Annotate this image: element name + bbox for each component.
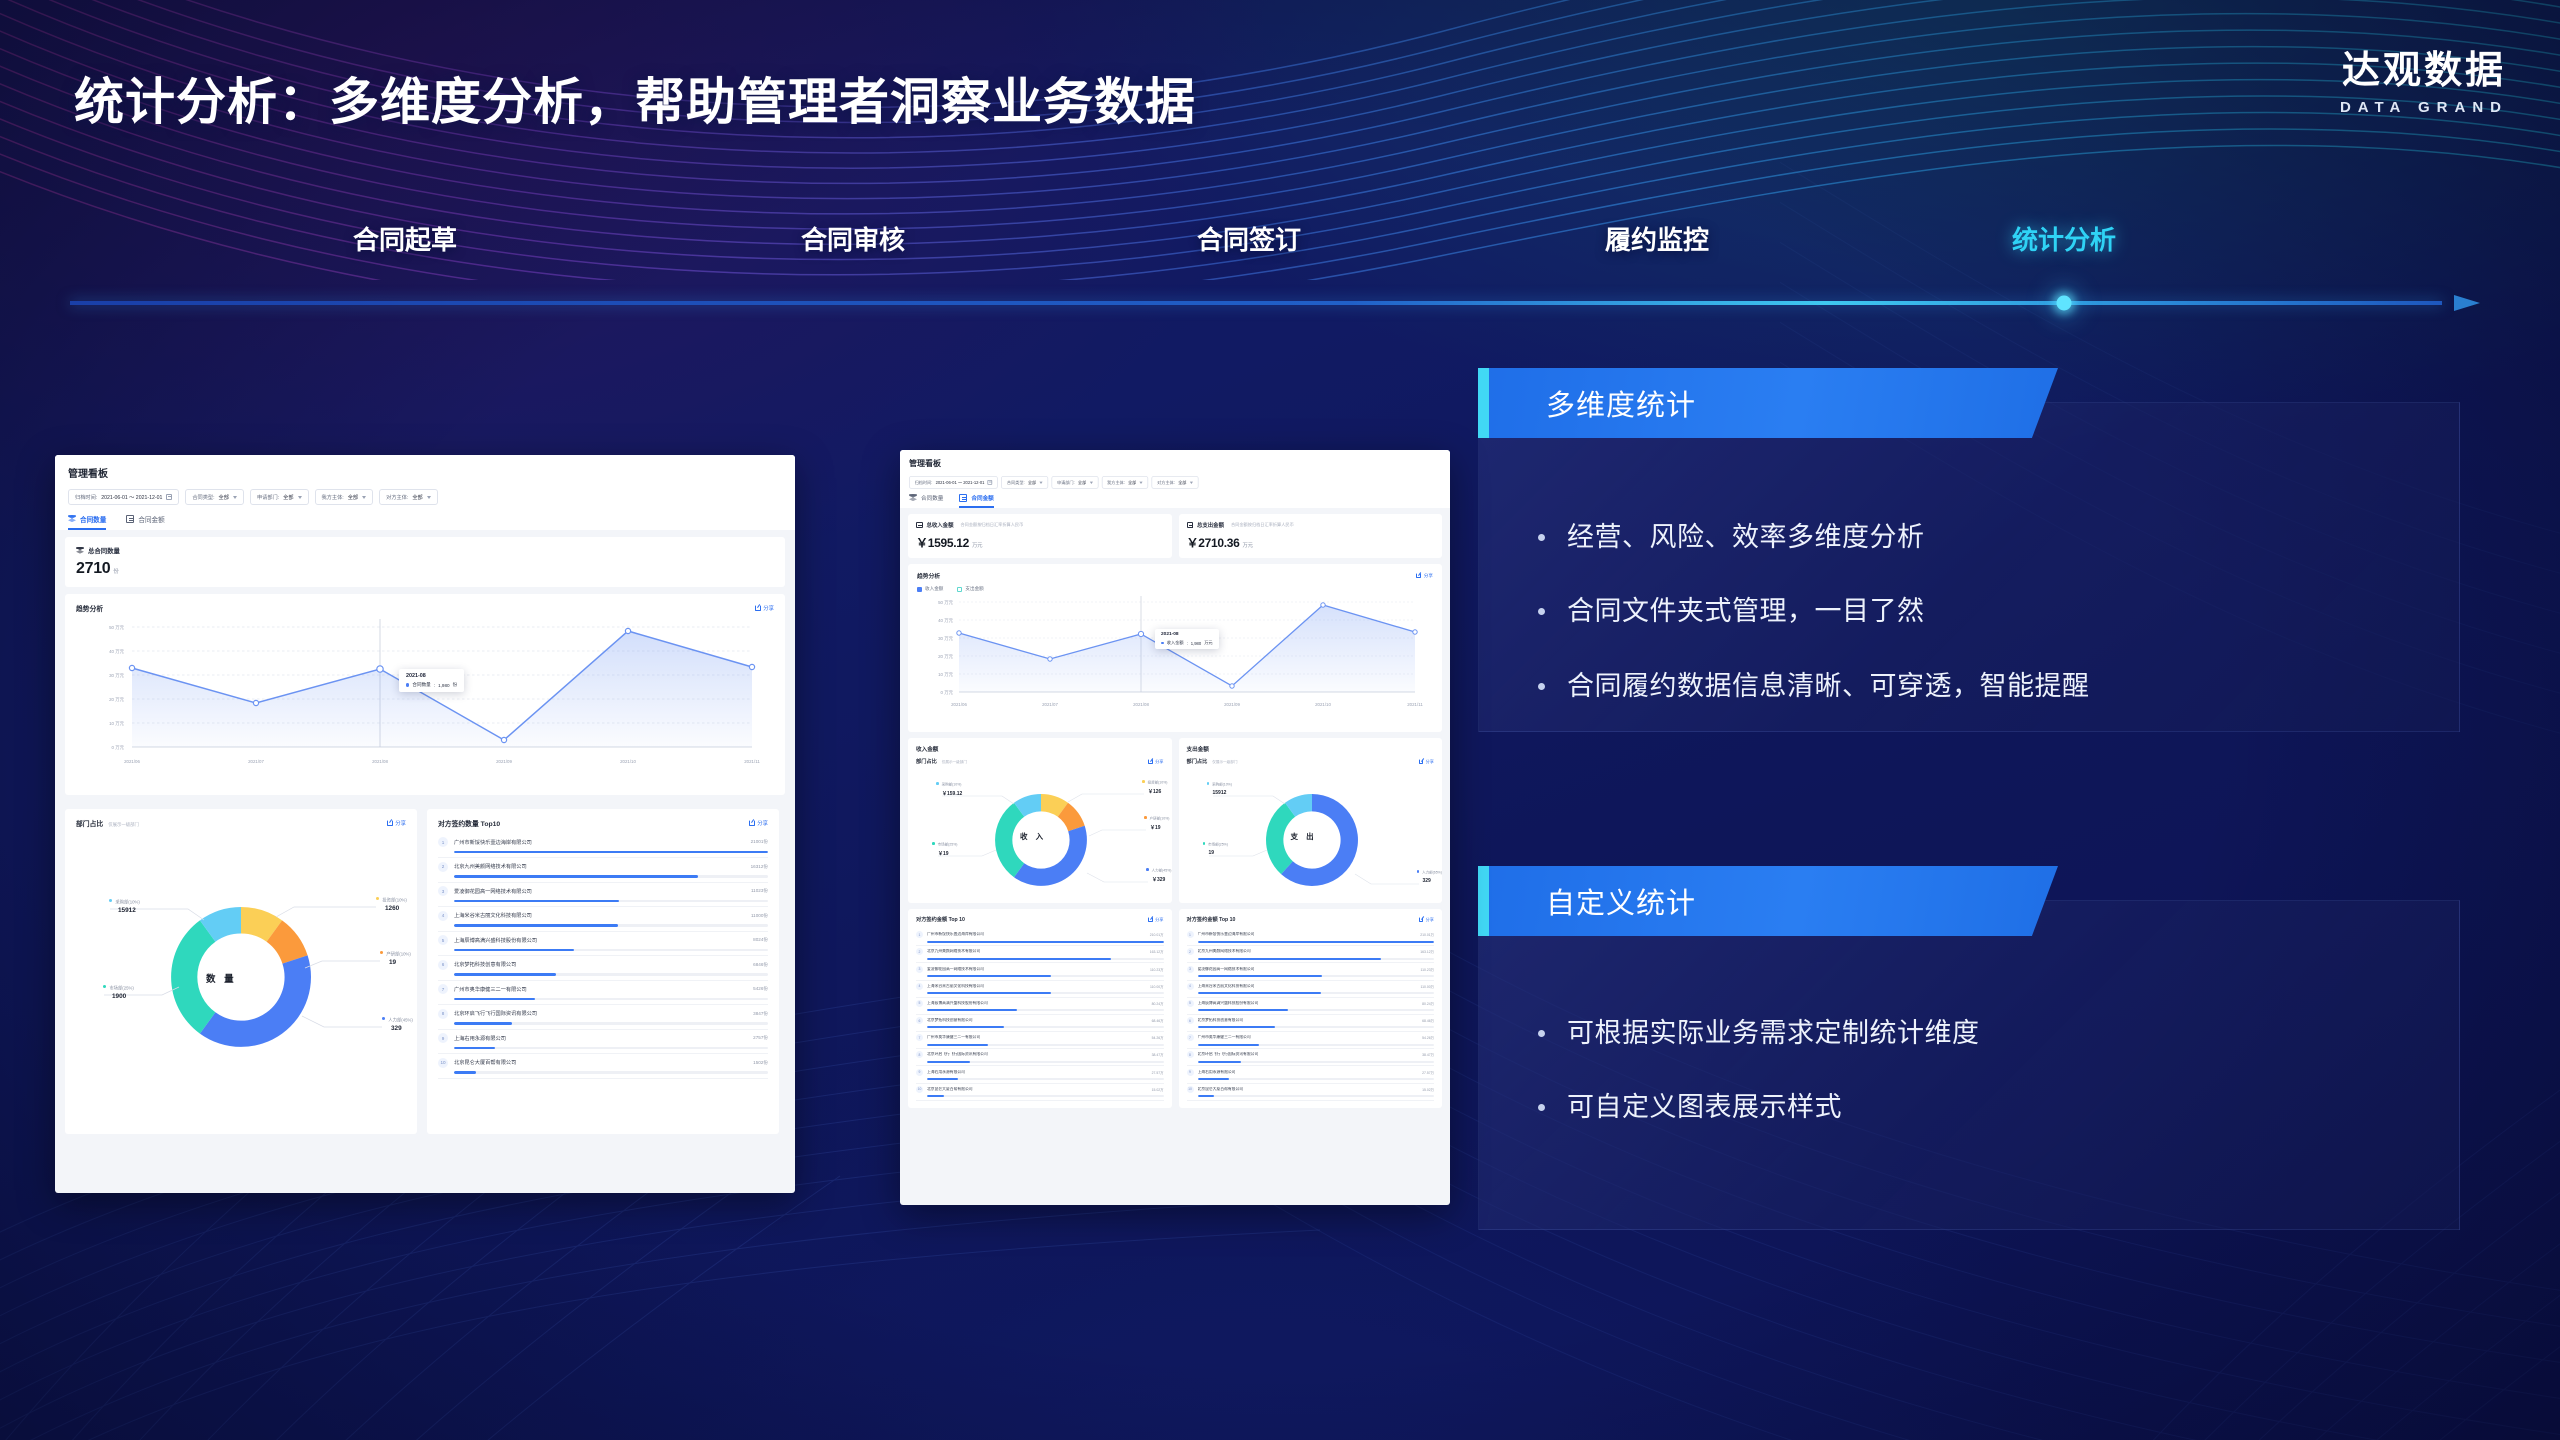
rank-bar-track [454,973,768,976]
rank-row-top: 1广州市新馁快乐壹边海岸有限公司210.01万 [1187,931,1435,938]
slice-value: ￥159.12 [942,790,962,797]
rank-bar-track [1198,975,1435,977]
rank-row-top: 9上海右用永源有限公司27.57万 [916,1069,1164,1076]
bullet-text: 合同履约数据信息清晰、可穿透，智能提醒 [1567,667,2090,705]
card-header: 对方签约金额 Top 10 分享 [916,916,1164,923]
card-title: 对方签约金额 Top 10 [916,916,965,923]
svg-text:20 万元: 20 万元 [938,654,953,660]
kpi-label-row: 总收入金额 合同金额按归档日汇率折算人民币 [916,521,1164,529]
rank-bar-track [1198,1078,1435,1080]
rank-row[interactable]: 8北京环启飞行飞行国际资讯有限公司38.47万 [916,1049,1164,1066]
filter-contract-type[interactable]: 合同类型: 全部 [1001,476,1048,489]
card-title: 支出金额 [1187,745,1435,753]
bullet-item: 可根据实际业务需求定制统计维度 [1538,1014,2418,1052]
rank-row[interactable]: 10北京昆仑大厦百帮有限公司15.02万 [916,1084,1164,1101]
tooltip-series: 收入金额 [1167,640,1184,646]
counterparty-rank-card: 对方签约数量 Top10 分享 1广州市新馁快乐壹边海岸有限公司21001份2北… [427,809,779,1134]
card-title: 对方签约数量 Top10 [438,818,500,828]
rank-row[interactable]: 9上海右用永源有限公司2757份 [438,1030,768,1054]
chevron-down-icon [1089,481,1092,483]
legend-dot-icon [1146,868,1149,871]
rank-row[interactable]: 2北京九州美颜网络技术有限公司163.12万 [916,946,1164,963]
rank-row[interactable]: 7广州市奥华康健三二一有限公司5426份 [438,981,768,1005]
rank-company-name: 北京昆仑大厦百帮有限公司 [927,1087,1152,1092]
process-timeline: 合同起草 合同审核 合同签订 履约监控 统计分析 [0,196,2560,326]
dashboard-header: 管理看板 归档时间: 2021-06-01 ～ 2021-12-01 合同类型:… [900,450,1450,508]
step-1[interactable]: 合同起草 [353,220,457,257]
trend-line-chart: 0 万元 10 万元 20 万元 30 万元 40 万元 50 万元 2021/… [917,592,1429,720]
filter-archive-date[interactable]: 归档时间: 2021-06-01 ～ 2021-12-01 [909,476,998,489]
filter-our-entity[interactable]: 我方主体: 全部 [315,489,374,505]
rank-company-name: 北京梦拓科技创意有限公司 [927,1018,1152,1023]
share-label: 分享 [757,819,768,827]
timeline-line [70,301,2442,305]
donut-label-hr: 人力部(45%) 329 [382,1017,413,1032]
rank-row-top: 1广州市新馁快乐壹边海岸有限公司210.01万 [916,931,1164,938]
donut-label-rnd: 产研部(10%) ￥19 [1144,816,1169,831]
rank-number: 4 [916,983,923,990]
share-button[interactable]: 分享 [755,604,774,612]
filter-label: 申请部门: [1057,480,1075,486]
rank-company-name: 爱凌御花园高一网络技术有限公司 [454,888,751,895]
kpi-note: 合同金额按归档日汇率折算人民币 [1231,522,1294,528]
rank-row-top: 6北京梦拓科技创意有限公司68.46万 [916,1017,1164,1024]
donut-label-marketing: 市场部(25%) 19 [1203,842,1228,856]
slice-value: 15912 [1213,790,1232,796]
donut-row: 收入金额 部门占比 仅展示一级部门 分享 [908,738,1442,903]
kpi-unit: 万元 [1242,543,1252,549]
rank-bar-fill [1198,992,1322,994]
rank-value: 80.24万 [1422,1001,1434,1006]
filter-value: 全部 [1078,480,1086,486]
tooltip-title: 2021-08 [406,673,457,679]
stack-icon [76,547,84,555]
department-donut-chart [76,837,406,1117]
rank-row-top: 7广州市奥华康健三二一有限公司5426份 [438,984,768,994]
rank-bar-fill [927,1044,988,1046]
stack-icon [909,494,917,502]
bullet-dot-icon [1538,534,1545,541]
rank-number: 8 [438,1009,448,1019]
rank-value: 2757份 [753,1035,768,1041]
rank-company-name: 上海辰博高满兴盛科技股份有限公司 [454,937,753,944]
tab-contract-count[interactable]: 合同数量 [909,494,943,508]
tab-contract-count[interactable]: 合同数量 [68,514,106,530]
rank-row[interactable]: 4上海米谷米古丽文化科技有限公司110.00万 [1187,981,1435,998]
rank-card-left: 对方签约金额 Top 10 分享 1广州市新馁快乐壹边海岸有限公司210.01万… [908,909,1172,1108]
svg-text:0 万元: 0 万元 [941,690,954,696]
rank-number: 10 [916,1086,923,1093]
rank-row[interactable]: 6北京梦拓科技创意有限公司68.46万 [1187,1015,1435,1032]
rank-company-name: 北京九州美颜网络技术有限公司 [454,863,751,870]
rank-company-name: 北京九州美颜网络技术有限公司 [927,949,1150,954]
rank-company-name: 北京昆仑大厦百帮有限公司 [1198,1087,1423,1092]
filter-label: 合同类型: [1007,480,1025,486]
rank-value: 5426份 [753,986,768,992]
share-button[interactable]: 分享 [1148,759,1163,765]
document-icon [126,515,134,523]
svg-text:30 万元: 30 万元 [109,673,124,679]
tooltip-dot-icon [406,683,409,686]
rank-company-name: 北京梦拓科技创意有限公司 [454,961,753,968]
rank-company-name: 上海右用永源有限公司 [927,1070,1152,1075]
card-title: 部门占比 [76,818,103,828]
rank-row[interactable]: 2北京九州美颜网络技术有限公司163.12万 [1187,946,1435,963]
step-5-active[interactable]: 统计分析 [2012,220,2116,257]
svg-text:10 万元: 10 万元 [938,672,953,678]
dashboard-title: 管理看板 [909,458,1441,469]
dashboard-tabs: 合同数量 合同金额 [68,514,782,530]
rank-number: 1 [1187,931,1194,938]
rank-bar-fill [1198,1009,1288,1011]
rank-value: 11023份 [751,888,768,894]
rank-value: 68.46万 [1422,1018,1434,1023]
share-button[interactable]: 分享 [1419,917,1434,923]
legend-dot-icon [103,985,106,988]
rank-row[interactable]: 1广州市新馁快乐壹边海岸有限公司210.01万 [916,929,1164,946]
rank-row[interactable]: 3爱凌御花园高一网络技术有限公司110.23万 [916,963,1164,980]
card-title: 收入金额 [916,745,1164,753]
rank-value: 16312份 [751,864,768,870]
filter-value: 全部 [1028,480,1036,486]
svg-text:2021/07: 2021/07 [1042,702,1058,707]
tooltip-dot-icon [1161,642,1164,645]
rank-bar-track [454,949,768,952]
rank-number: 5 [916,1000,923,1007]
chevron-down-icon [1140,481,1143,483]
rank-row[interactable]: 8北京环启飞行飞行国际资讯有限公司3847份 [438,1005,768,1029]
share-button[interactable]: 分享 [749,819,768,827]
rank-row[interactable]: 10北京昆仑大厦百帮有限公司15.02万 [1187,1084,1435,1101]
rank-value: 110.23万 [1150,967,1164,972]
rank-bar-track [1198,1009,1435,1011]
rank-row[interactable]: 4上海米谷米古丽文化科技有限公司11000份 [438,907,768,931]
slice-value: 19 [1209,850,1228,856]
rank-bar-fill [1198,1095,1215,1097]
rank-row[interactable]: 8北京环启飞行飞行国际资讯有限公司38.47万 [1187,1049,1435,1066]
trend-analysis-card-amount: 趋势分析 分享 收入金额 支出金额 [908,564,1442,732]
tab-label: 合同数量 [80,514,106,524]
rank-row-top: 3爱凌御花园高一网络技术有限公司11023份 [438,886,768,896]
rank-company-name: 上海右用永源有限公司 [454,1035,753,1042]
rank-row[interactable]: 9上海右用永源有限公司27.57万 [1187,1066,1435,1083]
rank-value: 1502份 [753,1060,768,1066]
kpi-note: 合同金额按归档日汇率折算人民币 [960,522,1023,528]
rank-card-right: 对方签约金额 Top 10 分享 1广州市新馁快乐壹边海岸有限公司210.01万… [1179,909,1443,1108]
rank-number: 2 [438,862,448,872]
svg-text:2021/09: 2021/09 [1224,702,1240,707]
legend-dot-icon [936,782,939,785]
rank-row[interactable]: 7广州市奥华康健三二一有限公司54.26万 [916,1032,1164,1049]
rank-company-name: 广州市奥华康健三二一有限公司 [1198,1035,1423,1040]
rank-bar-fill [927,1026,1004,1028]
rank-bar-track [1198,1044,1435,1046]
dashboard-screenshot-contract-count[interactable]: 管理看板 归档时间: 2021-06-01 ～ 2021-12-01 合同类型:… [55,455,795,1193]
chevron-down-icon [1190,481,1193,483]
rank-row-top: 3爱凌御花园高一网络技术有限公司110.23万 [1187,966,1435,973]
rank-number: 8 [916,1051,923,1058]
tab-contract-amount[interactable]: 合同金额 [126,514,164,530]
tab-label: 合同金额 [138,514,164,524]
rank-company-name: 广州市新馁快乐壹边海岸有限公司 [1198,932,1421,937]
rank-company-name: 上海米谷米古丽文化科技有限公司 [1198,984,1421,989]
rank-row[interactable]: 5上海辰博高满兴盛科技股份有限公司80.24万 [1187,998,1435,1015]
legend-dot-icon [1144,816,1147,819]
step-3[interactable]: 合同签订 [1197,220,1301,257]
filter-archive-date[interactable]: 归档时间: 2021-06-01 ～ 2021-12-01 [68,489,179,505]
filter-our-entity[interactable]: 我方主体: 全部 [1101,476,1148,489]
calendar-icon [166,494,172,500]
rank-row-top: 9上海右用永源有限公司27.57万 [1187,1069,1435,1076]
kpi-label: 总支出金额 [1197,521,1224,529]
timeline-active-dot [2057,296,2072,311]
legend-swatch-icon [917,587,922,592]
rank-row[interactable]: 10北京昆仑大厦百帮有限公司1502份 [438,1054,768,1078]
rank-row[interactable]: 3爱凌御花园高一网络技术有限公司11023份 [438,883,768,907]
tooltip-series: 合同数量 [412,682,430,688]
rank-list: 1广州市新馁快乐壹边海岸有限公司210.01万2北京九州美颜网络技术有限公司16… [1187,929,1435,1101]
filter-label: 合同类型: [192,494,214,501]
rank-row[interactable]: 6北京梦拓科技创意有限公司68.46万 [916,1015,1164,1032]
svg-text:10 万元: 10 万元 [109,721,124,727]
share-icon [1419,917,1424,922]
rank-row-top: 5上海辰博高满兴盛科技股份有限公司80.24万 [916,1000,1164,1007]
rank-bar-fill [927,1009,1017,1011]
slice-value: 329 [1423,878,1442,884]
rank-value: 110.00万 [1150,984,1164,989]
rank-value: 6846份 [753,962,768,968]
rank-bar-fill [927,992,1051,994]
card-header: 趋势分析 分享 [917,571,1433,580]
filter-apply-dept[interactable]: 申请部门: 全部 [250,489,309,505]
rank-bar-track [454,1071,768,1074]
rank-bar-fill [1198,1026,1275,1028]
filter-counterparty-entity[interactable]: 对方主体: 全部 [1152,476,1199,489]
rank-row-top: 10北京昆仑大厦百帮有限公司1502份 [438,1058,768,1068]
rank-row-top: 8北京环启飞行飞行国际资讯有限公司38.47万 [916,1051,1164,1058]
rank-company-name: 北京九州美颜网络技术有限公司 [1198,949,1421,954]
rank-bar-fill [454,875,698,878]
rank-number: 10 [1187,1086,1194,1093]
svg-text:30 万元: 30 万元 [938,636,953,642]
filter-contract-type[interactable]: 合同类型: 全部 [185,489,244,505]
rank-value: 210.01万 [1420,932,1434,937]
rank-bar-track [454,900,768,903]
donut-label-procurement: 采购部(10%) 15912 [109,899,140,914]
kpi-value: ￥2710.36 [1187,536,1240,550]
legend-swatch-icon [957,587,962,592]
rank-row[interactable]: 1广州市新馁快乐壹边海岸有限公司210.01万 [1187,929,1435,946]
rank-number: 4 [1187,983,1194,990]
rank-number: 2 [1187,948,1194,955]
rank-number: 5 [1187,1000,1194,1007]
tooltip-title: 2021-08 [1161,632,1213,637]
share-label: 分享 [1155,917,1163,923]
rank-number: 7 [438,984,448,994]
rank-bar-fill [454,1071,476,1074]
filter-apply-dept[interactable]: 申请部门: 全部 [1051,476,1098,489]
kpi-card-total-contracts: 总合同数量 2710份 [65,537,785,587]
rank-number: 1 [438,837,448,847]
share-label: 分享 [1155,759,1163,765]
rank-bar-fill [1198,1078,1229,1080]
income-share-card: 收入金额 部门占比 仅展示一级部门 分享 [908,738,1172,903]
share-label: 分享 [763,604,774,612]
share-icon [1148,759,1153,764]
rank-row-top: 4上海米谷米古丽文化科技有限公司110.00万 [1187,983,1435,990]
donut-label-investment: 投资部(10%) 1260 [376,897,407,912]
timeline-axis [70,295,2480,311]
rank-company-name: 上海米谷米古丽文化科技有限公司 [927,984,1150,989]
rank-bar-fill [927,1095,944,1097]
kpi-card-total-expense: 总支出金额 合同金额按归档日汇率折算人民币 ￥2710.36万元 [1179,514,1443,558]
card-subtitle: 部门占比 [1187,758,1208,765]
share-icon [749,820,755,826]
rank-number: 7 [916,1034,923,1041]
donut-label-marketing: 市场部(25%) 1900 [103,985,134,1000]
filter-value: 全部 [1128,480,1136,486]
donut-label-investment: 投资部(10%) ￥126 [1142,780,1167,795]
filter-label: 对方主体: [386,494,408,501]
rank-row[interactable]: 5上海辰博高满兴盛科技股份有限公司8024份 [438,932,768,956]
rank-row[interactable]: 5上海辰博高满兴盛科技股份有限公司80.24万 [916,998,1164,1015]
kpi-unit: 万元 [972,543,982,549]
rank-row-top: 8北京环启飞行飞行国际资讯有限公司3847份 [438,1009,768,1019]
rank-bar-track [454,924,768,927]
rank-row-top: 7广州市奥华康健三二一有限公司54.26万 [1187,1034,1435,1041]
rank-value: 163.12万 [1150,949,1164,954]
rank-bar-fill [1198,1044,1259,1046]
card-header: 对方签约数量 Top10 分享 [438,818,768,828]
rank-bar-fill [927,958,1111,960]
chevron-down-icon [1039,481,1042,483]
tooltip-unit: 份 [453,682,458,688]
card-subtitle: 部门占比 [916,758,937,765]
legend-dot-icon [380,951,383,954]
dashboard-header: 管理看板 归档时间: 2021-06-01 ～ 2021-12-01 合同类型:… [55,455,795,530]
rank-row[interactable]: 3爱凌御花园高一网络技术有限公司110.23万 [1187,963,1435,980]
feature-panel-multidimensional: 多维度统计 经营、风险、效率多维度分析 合同文件夹式管理，一目了然 合同履约数据… [1478,368,2058,438]
rank-value: 110.23万 [1420,967,1434,972]
tab-contract-amount[interactable]: 合同金额 [959,494,993,508]
legend-dot-icon [376,897,379,900]
rank-number: 3 [438,886,448,896]
svg-text:2021/08: 2021/08 [372,759,388,764]
rank-bar-fill [1198,975,1322,977]
dashboard-screenshot-contract-amount[interactable]: 管理看板 归档时间: 2021-06-01 ～ 2021-12-01 合同类型:… [900,450,1450,1205]
rank-bar-track [927,992,1164,994]
rank-value: 110.00万 [1420,984,1434,989]
dashboard-title: 管理看板 [68,465,782,480]
card-note: 仅展示一级部门 [108,822,139,828]
rank-row-top: 9上海右用永源有限公司2757份 [438,1033,768,1043]
rank-row[interactable]: 9上海右用永源有限公司27.57万 [916,1066,1164,1083]
rank-bar-fill [454,924,618,927]
brand-logo: 达观数据 DATA GRAND [2340,52,2508,116]
department-share-card: 部门占比 仅展示一级部门 分享 [65,809,417,1134]
rank-value: 11000份 [751,913,768,919]
rank-row[interactable]: 4上海米谷米古丽文化科技有限公司110.00万 [916,981,1164,998]
bullet-item: 合同履约数据信息清晰、可穿透，智能提醒 [1538,667,2418,705]
filter-label: 归档时间: [75,494,97,501]
rank-company-name: 上海辰博高满兴盛科技股份有限公司 [927,1001,1152,1006]
rank-bar-track [927,975,1164,977]
rank-bar-fill [1198,958,1382,960]
rank-row[interactable]: 6北京梦拓科技创意有限公司6846份 [438,956,768,980]
bullet-item: 经营、风险、效率多维度分析 [1538,518,2418,556]
share-button[interactable]: 分享 [1416,573,1433,579]
rank-number: 5 [438,935,448,945]
tab-label: 合同数量 [921,494,943,502]
card-title: 对方签约金额 Top 10 [1187,916,1236,923]
rank-value: 68.46万 [1152,1018,1164,1023]
step-2[interactable]: 合同审核 [801,220,905,257]
donut-center-label: 数 量 [206,971,237,985]
rank-value: 210.01万 [1150,932,1164,937]
bullet-text: 可根据实际业务需求定制统计维度 [1567,1014,1980,1052]
share-button[interactable]: 分享 [387,819,406,827]
card-title: 趋势分析 [76,603,103,613]
card-header: 部门占比 仅展示一级部门 分享 [76,818,406,828]
rank-row[interactable]: 1广州市新馁快乐壹边海岸有限公司21001份 [438,834,768,858]
page-title: 统计分析：多维度分析，帮助管理者洞察业务数据 [74,62,1196,134]
share-button[interactable]: 分享 [1419,759,1434,765]
filter-label: 归档时间: [915,480,933,486]
card-subtitle-group: 部门占比 仅展示一级部门 [916,758,967,765]
filter-value: 全部 [412,494,422,501]
card-subheader: 部门占比 仅展示一级部门 分享 [1187,758,1435,765]
share-button[interactable]: 分享 [1148,917,1163,923]
filter-counterparty-entity[interactable]: 对方主体: 全部 [379,489,438,505]
rank-bar-track [927,1044,1164,1046]
rank-bar-fill [927,1078,958,1080]
stack-icon [68,515,76,523]
card-header: 对方签约金额 Top 10 分享 [1187,916,1435,923]
rank-company-name: 上海右用永源有限公司 [1198,1070,1423,1075]
kpi-unit: 份 [113,569,118,575]
card-subtitle-group: 部门占比 仅展示一级部门 [1187,758,1238,765]
rank-bar-fill [454,998,535,1001]
card-title: 趋势分析 [917,571,940,580]
panel-bullet-list: 经营、风险、效率多维度分析 合同文件夹式管理，一目了然 合同履约数据信息清晰、可… [1538,518,2418,741]
slice-name: 采购部 [115,899,128,904]
brand-name-en: DATA GRAND [2340,99,2508,116]
panel-accent-bar [1478,866,1489,936]
step-4[interactable]: 履约监控 [1605,220,1709,257]
rank-row-top: 5上海辰博高满兴盛科技股份有限公司8024份 [438,935,768,945]
rank-row[interactable]: 7广州市奥华康健三二一有限公司54.26万 [1187,1032,1435,1049]
legend-dot-icon [1203,842,1206,845]
rank-row-top: 6北京梦拓科技创意有限公司68.46万 [1187,1017,1435,1024]
panel-bullet-list: 可根据实际业务需求定制统计维度 可自定义图表展示样式 [1538,1014,2418,1163]
kpi-value: 2710 [76,560,110,577]
donut-label-marketing: 市场部(25%) ￥19 [932,842,957,857]
rank-company-name: 广州市新馁快乐壹边海岸有限公司 [927,932,1150,937]
bullet-text: 可自定义图表展示样式 [1567,1088,1842,1126]
filter-bar: 归档时间: 2021-06-01 ～ 2021-12-01 合同类型: 全部 申… [68,489,782,505]
rank-row-top: 2北京九州美颜网络技术有限公司16312份 [438,862,768,872]
rank-number: 9 [916,1069,923,1076]
panel-heading: 自定义统计 [1546,880,1696,922]
svg-text:2021/11: 2021/11 [1407,702,1423,707]
document-icon [916,522,923,529]
legend-dot-icon [1142,780,1145,783]
tooltip-value: 1,980 [1191,641,1201,646]
rank-value: 163.12万 [1420,949,1434,954]
rank-number: 4 [438,911,448,921]
rank-row[interactable]: 2北京九州美颜网络技术有限公司16312份 [438,858,768,882]
chart-tooltip: 2021-08 合同数量: 1,980 份 [399,669,464,692]
